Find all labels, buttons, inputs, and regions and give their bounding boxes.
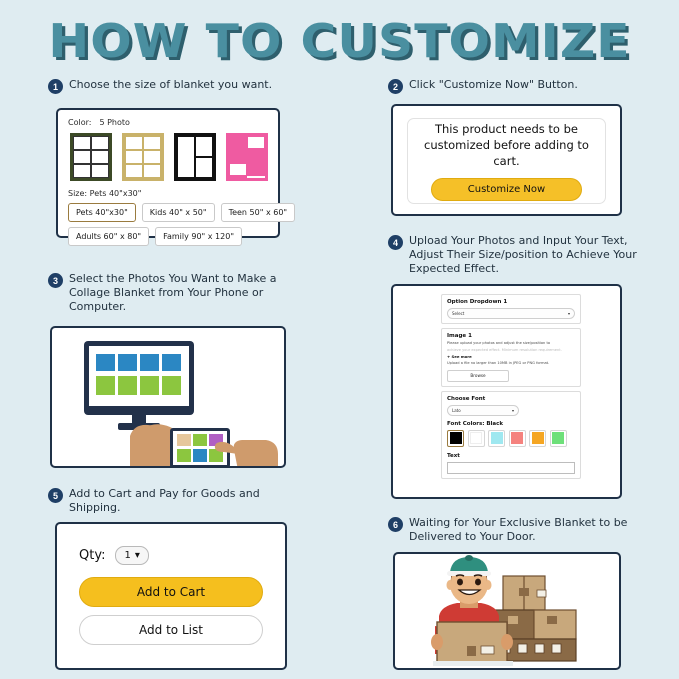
step-1-text: Choose the size of blanket you want. [69,78,272,92]
infographic-page: HOW TO CUSTOMIZE 1 Choose the size of bl… [0,0,679,679]
option-dropdown-select[interactable]: Select ▾ [447,308,575,319]
color-label: Color: [68,118,91,127]
upload-size-note: Upload a file no larger than 10MB in JPE… [447,361,575,366]
thumbnail-pink-5-photo[interactable] [226,133,268,181]
option-dropdown-value: Select [452,311,464,316]
step-5-heading: 5 Add to Cart and Pay for Goods and Ship… [48,487,308,515]
step-2-badge: 2 [388,79,403,94]
size-row-1: Pets 40"x30" Kids 40" x 50" Teen 50" x 6… [68,203,268,222]
collage-selection-illustration [52,328,284,466]
font-value: Lato [452,408,461,413]
step-2-panel: This product needs to be customized befo… [391,104,622,216]
delivery-illustration [395,554,619,668]
choose-font-title: Choose Font [447,396,575,402]
swatch-green[interactable] [550,430,567,447]
step-1-badge: 1 [48,79,63,94]
size-option-adults[interactable]: Adults 60" x 80" [68,227,149,246]
font-color-swatches [447,430,575,447]
step-3-text: Select the Photos You Want to Make a Col… [69,272,298,313]
swatch-black[interactable] [447,430,464,447]
text-input[interactable] [447,462,575,474]
add-to-list-button[interactable]: Add to List [79,615,263,645]
customize-now-button[interactable]: Customize Now [431,178,582,201]
step-6-heading: 6 Waiting for Your Exclusive Blanket to … [388,516,656,544]
thumbnail-gold-6-grid[interactable] [122,133,164,181]
size-option-kids[interactable]: Kids 40" x 50" [142,203,215,222]
browse-button[interactable]: Browse [447,370,509,382]
step-6-panel [393,552,621,670]
color-row: Color: 5 Photo [68,118,268,127]
size-row-2: Adults 60" x 80" Family 90" x 120" [68,227,268,246]
font-colors-label: Font Colors: Black [447,421,575,427]
font-select[interactable]: Lato ▾ [447,405,519,416]
image-upload-block: Image 1 Please upload your photos and ad… [441,328,581,387]
thumbnail-black-3-photo[interactable] [174,133,216,181]
text-field-title: Text [447,453,575,459]
step-2-heading: 2 Click "Customize Now" Button. [388,78,668,94]
swatch-salmon[interactable] [509,430,526,447]
customizer-form: Option Dropdown 1 Select ▾ Image 1 Pleas… [441,294,581,491]
step-6-badge: 6 [388,517,403,532]
step-5-badge: 5 [48,488,63,503]
step-6-text: Waiting for Your Exclusive Blanket to be… [409,516,656,544]
step-1-heading: 1 Choose the size of blanket you want. [48,78,348,94]
image-upload-title: Image 1 [447,333,575,339]
image-upload-help-2: achieve your expected effect. Minimum re… [447,348,575,353]
qty-value: 1 [124,550,130,561]
step-3-panel [50,326,286,468]
size-option-teen[interactable]: Teen 50" x 60" [221,203,296,222]
option-dropdown-block: Option Dropdown 1 Select ▾ [441,294,581,324]
chevron-down-icon: ▾ [568,311,570,316]
thumbnail-olive-6-grid[interactable] [70,133,112,181]
page-title: HOW TO CUSTOMIZE [0,14,679,68]
step-5-text: Add to Cart and Pay for Goods and Shippi… [69,487,308,515]
font-block: Choose Font Lato ▾ Font Colors: Black Te… [441,391,581,479]
customize-card: This product needs to be customized befo… [407,118,606,204]
qty-label: Qty: [79,548,105,563]
step-1-panel: Color: 5 Photo Size: Pets 40"x30" Pets 4… [56,108,280,238]
customize-message: This product needs to be customized befo… [420,121,593,169]
step-4-heading: 4 Upload Your Photos and Input Your Text… [388,234,653,275]
step-5-panel: Qty: 1 ▾ Add to Cart Add to List [55,522,287,670]
swatch-cyan[interactable] [488,430,505,447]
chevron-down-icon: ▾ [512,408,514,413]
see-more-link[interactable]: + See more [447,354,575,359]
color-value: 5 Photo [99,118,129,127]
step-4-badge: 4 [388,235,403,250]
step-3-badge: 3 [48,273,63,288]
size-option-family[interactable]: Family 90" x 120" [155,227,242,246]
step-4-text: Upload Your Photos and Input Your Text, … [409,234,653,275]
swatch-orange[interactable] [529,430,546,447]
size-label: Size: Pets 40"x30" [68,189,268,198]
qty-select[interactable]: 1 ▾ [115,546,148,565]
step-2-text: Click "Customize Now" Button. [409,78,578,92]
step-4-panel: Option Dropdown 1 Select ▾ Image 1 Pleas… [391,284,622,499]
add-to-cart-button[interactable]: Add to Cart [79,577,263,607]
qty-row: Qty: 1 ▾ [79,546,263,565]
chevron-down-icon: ▾ [135,550,140,561]
swatch-white[interactable] [468,430,485,447]
image-upload-help: Please upload your photos and adjust the… [447,341,575,346]
step-3-heading: 3 Select the Photos You Want to Make a C… [48,272,298,313]
option-dropdown-title: Option Dropdown 1 [447,299,575,305]
size-option-pets[interactable]: Pets 40"x30" [68,203,136,222]
thumbnail-row [70,133,268,181]
